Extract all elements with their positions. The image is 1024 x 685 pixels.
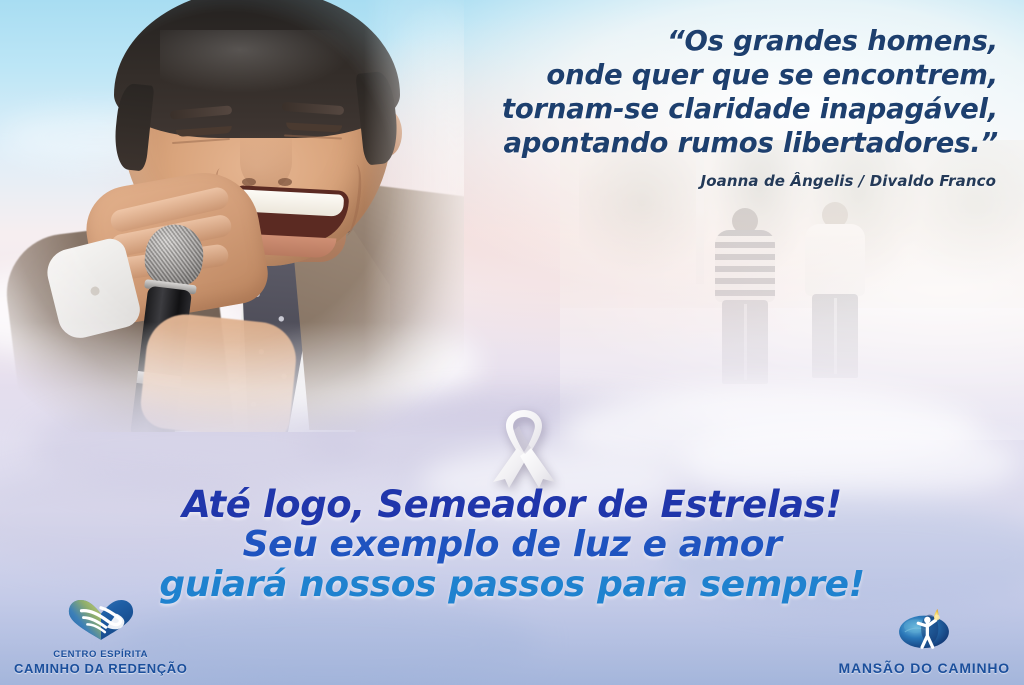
logo-left-line-1: CENTRO ESPÍRITA — [53, 649, 148, 661]
logo-centro-espirita: CENTRO ESPÍRITA CAMINHO DA REDENÇÃO — [14, 597, 187, 677]
mansao-do-caminho-logo-icon — [895, 606, 953, 657]
quote-line-2: onde quer que se encontrem, — [378, 58, 998, 92]
quote-block: “Os grandes homens, onde quer que se enc… — [378, 24, 998, 160]
logo-mansao-do-caminho: MANSÃO DO CAMINHO — [839, 606, 1010, 677]
quote-attribution: Joanna de Ângelis / Divaldo Franco — [701, 172, 996, 190]
hair — [114, 0, 400, 138]
quote-line-4: apontando rumos libertadores.” — [378, 126, 998, 160]
nostril-right — [278, 178, 292, 186]
logo-right-line-1: MANSÃO DO CAMINHO — [839, 659, 1010, 677]
mourning-ribbon-icon — [481, 404, 567, 488]
headline-block: Até logo, Semeador de Estrelas! Seu exem… — [0, 484, 1024, 605]
quote-line-1: “Os grandes homens, — [378, 24, 998, 58]
quote-line-3: tornam-se claridade inapagável, — [378, 92, 998, 126]
heart-hands-logo-icon — [66, 597, 136, 647]
headline-line-1: Até logo, Semeador de Estrelas! — [0, 484, 1024, 525]
headline-line-2: Seu exemplo de luz e amor — [0, 525, 1024, 565]
logo-left-line-2: CAMINHO DA REDENÇÃO — [14, 661, 187, 677]
memorial-poster: “Os grandes homens, onde quer que se enc… — [0, 0, 1024, 685]
